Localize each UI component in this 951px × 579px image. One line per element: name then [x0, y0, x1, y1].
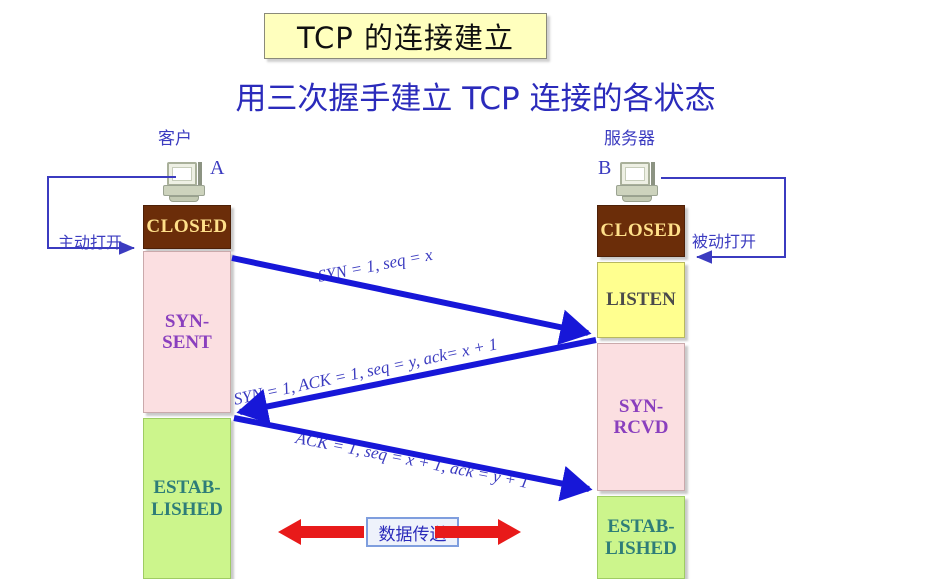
server-state-established: ESTAB- LISHED: [597, 496, 685, 579]
client-active-open-label: 主动打开: [58, 229, 122, 253]
server-state-established-line2: LISHED: [605, 538, 677, 559]
server-letter: B: [598, 157, 611, 180]
server-state-syn-rcvd: SYN- RCVD: [597, 343, 685, 491]
client-letter: A: [210, 157, 224, 180]
data-transfer-box: 数据传送: [366, 517, 459, 547]
message-label-syn: SYN = 1, seq = x: [316, 245, 434, 287]
message-label-syn-ack: SYN = 1, ACK = 1, seq = y, ack= x + 1: [232, 334, 499, 410]
server-state-closed: CLOSED: [597, 205, 685, 257]
client-state-syn-sent-line2: SENT: [162, 332, 212, 353]
client-state-established: ESTAB- LISHED: [143, 418, 231, 579]
title-box: TCP 的连接建立: [264, 13, 547, 59]
client-state-established-line1: ESTAB-: [153, 477, 220, 498]
page-title: TCP 的连接建立: [297, 15, 514, 57]
server-state-syn-rcvd-line1: SYN-: [619, 396, 663, 417]
message-label-ack: ACK = 1, seq = x + 1, ack = y + 1: [294, 428, 530, 493]
data-transfer-arrow-left: [278, 519, 364, 545]
page-subtitle: 用三次握手建立 TCP 连接的各状态: [0, 73, 951, 118]
client-state-established-line2: LISHED: [151, 499, 223, 520]
client-state-closed-label: CLOSED: [146, 216, 227, 237]
server-state-syn-rcvd-line2: RCVD: [614, 417, 669, 438]
server-state-closed-label: CLOSED: [600, 220, 681, 241]
server-computer-icon: [613, 162, 661, 204]
server-state-listen: LISTEN: [597, 262, 685, 338]
client-state-syn-sent-line1: SYN-: [165, 311, 209, 332]
server-state-established-line1: ESTAB-: [607, 516, 674, 537]
server-state-listen-label: LISTEN: [606, 289, 676, 310]
diagram-canvas: TCP 的连接建立 用三次握手建立 TCP 连接的各状态 客户 A 服务器 B …: [0, 0, 951, 579]
client-computer-icon: [160, 162, 208, 204]
client-label: 客户: [158, 124, 192, 149]
data-transfer-label: 数据传送: [379, 520, 447, 545]
server-label: 服务器: [604, 124, 655, 149]
server-passive-open-label: 被动打开: [692, 228, 756, 252]
client-state-closed: CLOSED: [143, 205, 231, 249]
client-state-syn-sent: SYN- SENT: [143, 251, 231, 413]
